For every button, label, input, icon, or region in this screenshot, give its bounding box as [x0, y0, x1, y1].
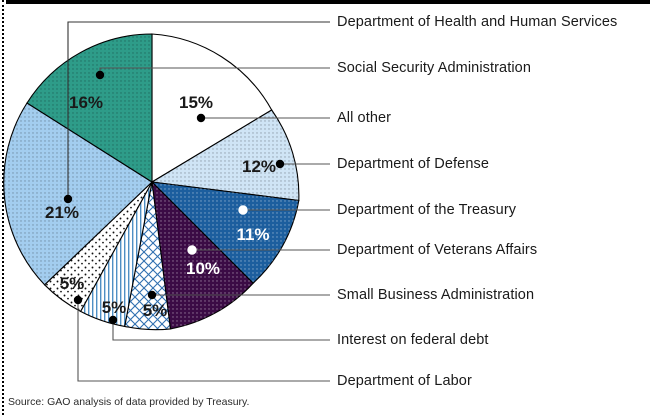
callout-label-labor[interactable]: Department of Labor: [337, 373, 472, 389]
slice-value-defense: 12%: [242, 157, 276, 176]
slice-value-all-other: 15%: [179, 93, 213, 112]
callout-dot-treasury: [239, 206, 247, 214]
callout-dot-ssa: [96, 71, 104, 79]
callout-dot-all-other: [197, 114, 205, 122]
callout-label-defense[interactable]: Department of Defense: [337, 156, 489, 172]
slice-value-treasury: 11%: [236, 225, 269, 244]
callout-label-treasury[interactable]: Department of the Treasury: [337, 202, 516, 218]
slice-value-hhs: 16%: [69, 93, 103, 112]
callout-label-small-business[interactable]: Small Business Administration: [337, 287, 534, 303]
slice-value-labor: 5%: [60, 274, 85, 293]
slice-value-interest-federal-debt: 5%: [102, 298, 127, 317]
source-note: Source: GAO analysis of data provided by…: [8, 396, 249, 408]
callout-dot-hhs: [64, 195, 72, 203]
pie-chart: 16% 15% 12% 11% 10% 21% 5% 5% 5%: [0, 0, 650, 415]
callout-dot-labor: [74, 296, 82, 304]
slice-value-ssa: 21%: [45, 203, 79, 222]
callout-label-interest-federal-debt[interactable]: Interest on federal debt: [337, 332, 489, 348]
callout-dot-defense: [276, 160, 284, 168]
slice-value-small-business: 5%: [143, 301, 168, 320]
callout-label-veterans-affairs[interactable]: Department of Veterans Affairs: [337, 242, 537, 258]
callout-label-ssa[interactable]: Social Security Administration: [337, 60, 531, 76]
slice-value-veterans-affairs: 10%: [186, 259, 220, 278]
callout-dot-small-business: [148, 291, 156, 299]
callout-label-hhs[interactable]: Department of Health and Human Services: [337, 14, 617, 30]
chart-page: 16% 15% 12% 11% 10% 21% 5% 5% 5% Departm…: [0, 0, 650, 415]
callout-label-all-other[interactable]: All other: [337, 110, 391, 126]
callout-dot-interest-federal-debt: [109, 316, 117, 324]
callout-dot-veterans-affairs: [188, 246, 196, 254]
